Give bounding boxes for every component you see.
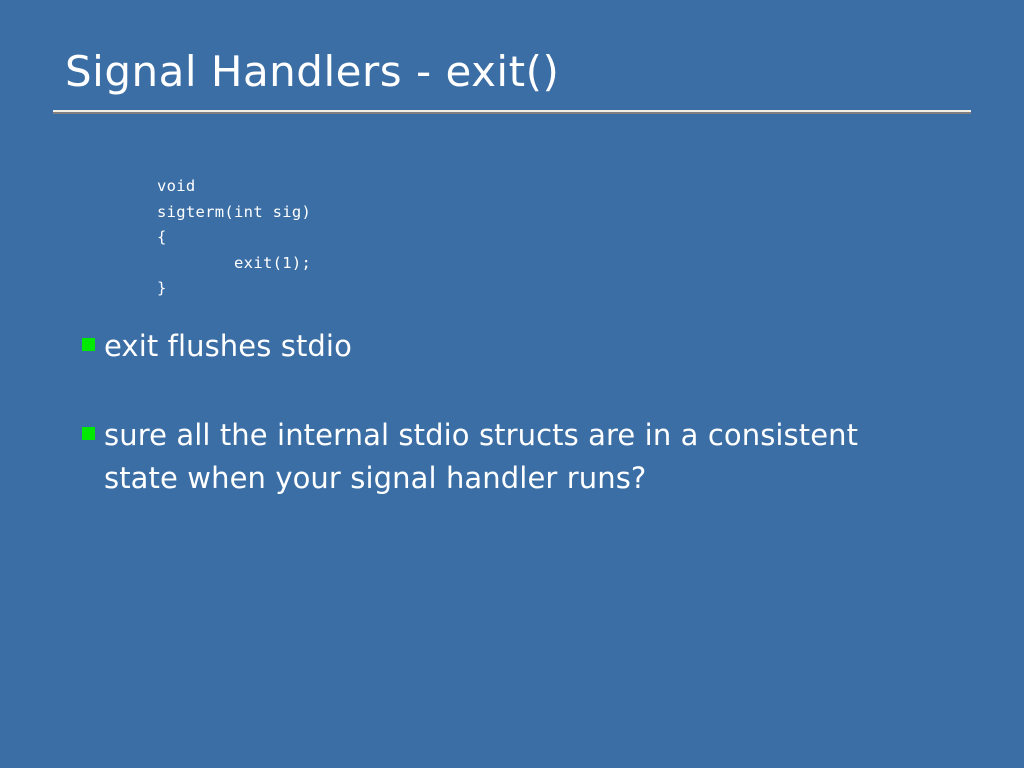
list-item: exit flushes stdio	[82, 325, 962, 368]
bullet-list: exit flushes stdio sure all the internal…	[82, 325, 962, 500]
square-bullet-icon	[82, 427, 95, 440]
slide-title-block: Signal Handlers - exit()	[53, 44, 971, 114]
code-sample: void sigterm(int sig) { exit(1); }	[157, 174, 311, 302]
page-title: Signal Handlers - exit()	[53, 44, 971, 100]
bullet-text: sure all the internal stdio structs are …	[104, 414, 934, 500]
title-divider	[53, 110, 971, 114]
presentation-slide: Signal Handlers - exit() void sigterm(in…	[0, 0, 1024, 768]
square-bullet-icon	[82, 338, 95, 351]
list-item: sure all the internal stdio structs are …	[82, 414, 962, 500]
bullet-text: exit flushes stdio	[104, 325, 934, 368]
